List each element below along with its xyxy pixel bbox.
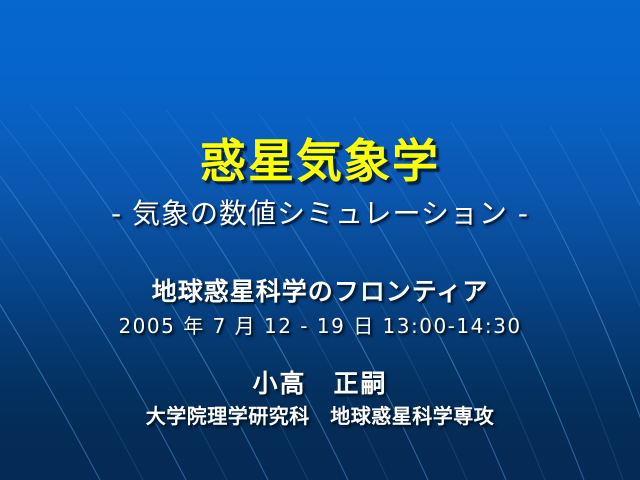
presenter-name: 小高 正嗣 bbox=[0, 364, 640, 400]
page-subtitle: - 気象の数値シミュレーション - bbox=[0, 198, 640, 230]
slide-text-stage: 惑星気象学 - 気象の数値シミュレーション - 地球惑星科学のフロンティア 20… bbox=[0, 0, 640, 480]
presenter-affiliation: 大学院理学研究科 地球惑星科学専攻 bbox=[0, 400, 640, 429]
title-slide: 惑星気象学 - 気象の数値シミュレーション - 地球惑星科学のフロンティア 20… bbox=[0, 0, 640, 480]
event-date: 2005 年 7 月 12 - 19 日 13:00-14:30 bbox=[0, 310, 640, 339]
page-title: 惑星気象学 bbox=[0, 136, 640, 187]
event-name: 地球惑星科学のフロンティア bbox=[0, 272, 640, 308]
